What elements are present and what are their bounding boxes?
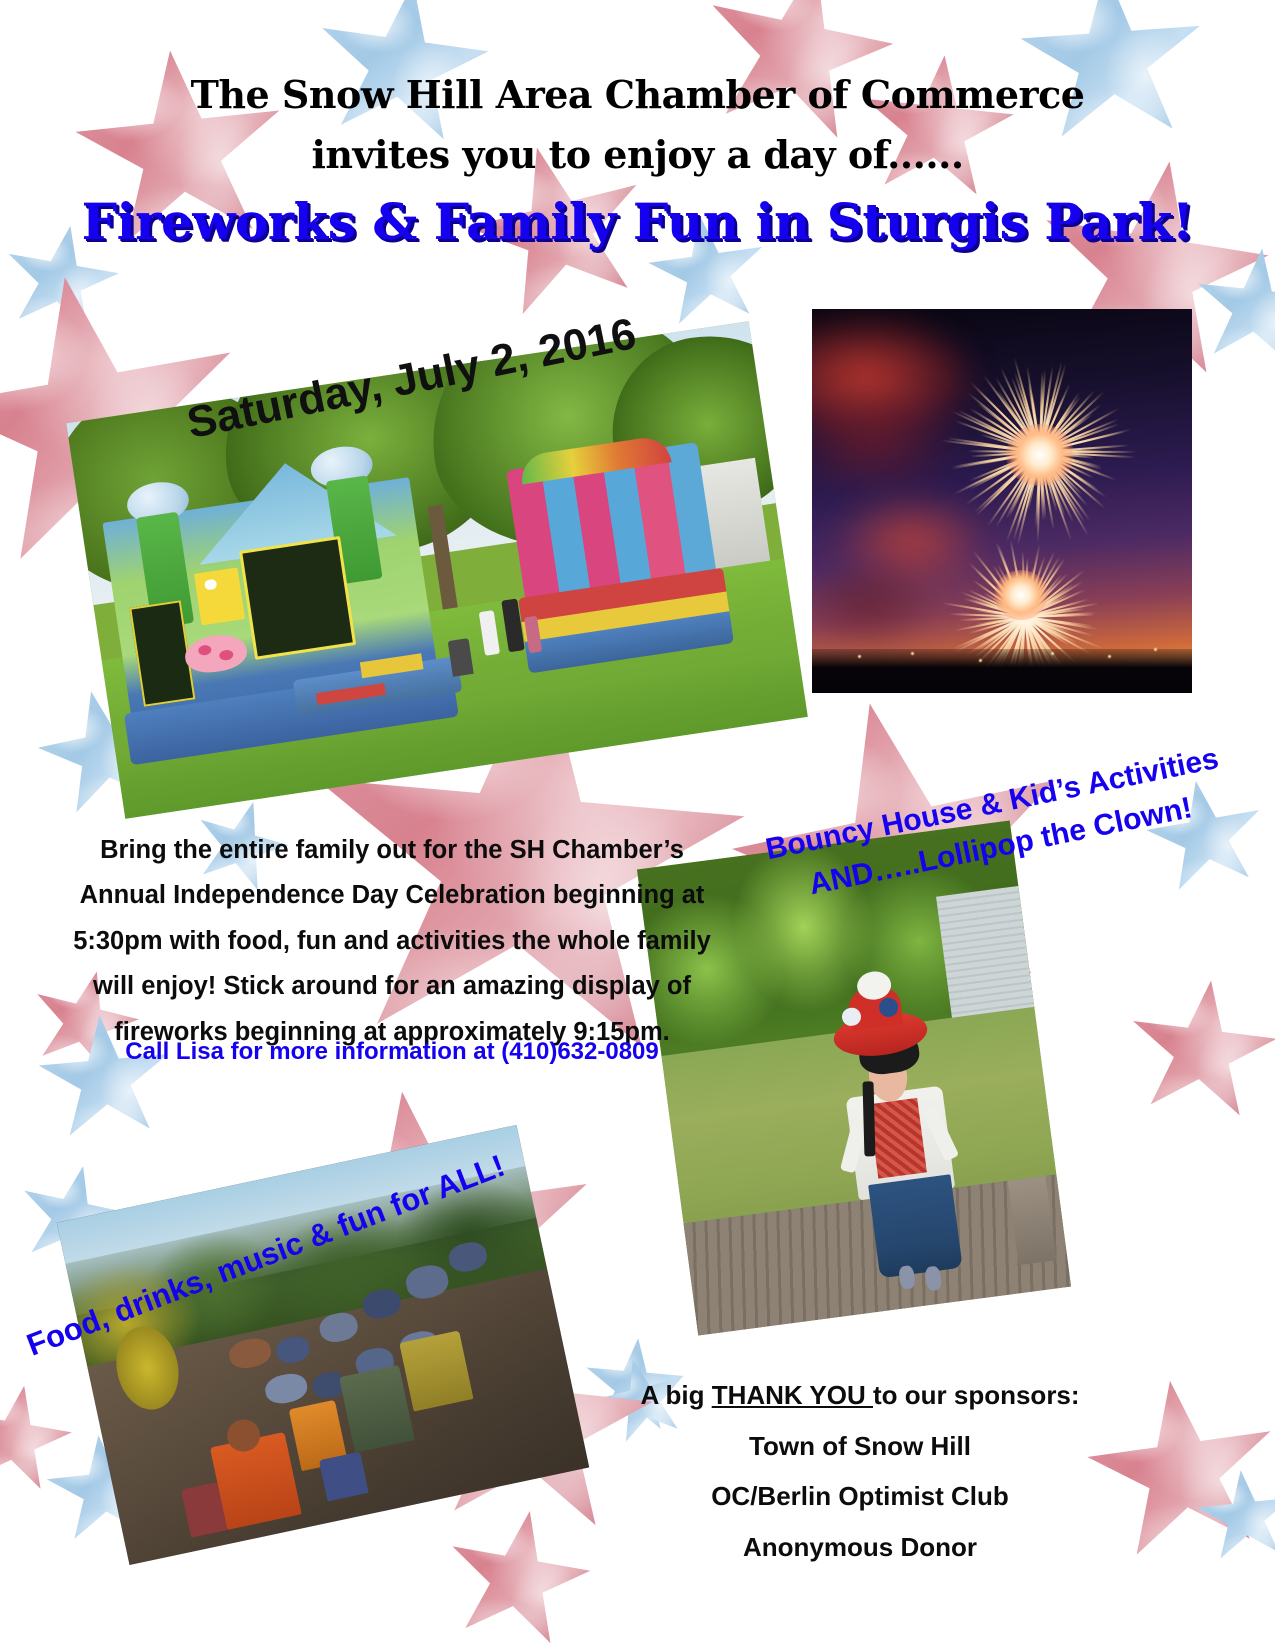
- flyer-text-content: The Snow Hill Area Chamber of Commerce i…: [0, 0, 1275, 1650]
- sponsor-item: Anonymous Donor: [560, 1522, 1160, 1573]
- contact-phone-line: Call Lisa for more information at (410)6…: [62, 1038, 722, 1066]
- activities-callout: Bouncy House & Kid’s Activities AND…..Lo…: [762, 738, 1231, 913]
- sponsor-item: Town of Snow Hill: [560, 1421, 1160, 1472]
- sponsors-intro-before: A big: [640, 1380, 711, 1410]
- page-title: Fireworks & Family Fun in Sturgis Park!: [0, 192, 1275, 251]
- header-line-1: The Snow Hill Area Chamber of Commerce: [0, 72, 1275, 117]
- header-line-2: invites you to enjoy a day of......: [0, 132, 1275, 177]
- sponsors-intro: A big THANK YOU to our sponsors:: [560, 1370, 1160, 1421]
- sponsors-section: A big THANK YOU to our sponsors: Town of…: [560, 1370, 1160, 1573]
- sponsor-item: OC/Berlin Optimist Club: [560, 1471, 1160, 1522]
- event-date: Saturday, July 2, 2016: [183, 309, 640, 449]
- flyer-page: The Snow Hill Area Chamber of Commerce i…: [0, 0, 1275, 1650]
- sponsors-intro-after: to our sponsors:: [873, 1380, 1080, 1410]
- event-description: Bring the entire family out for the SH C…: [62, 828, 722, 1055]
- food-fun-callout: Food, drinks, music & fun for ALL!: [22, 1148, 510, 1364]
- thank-you-underlined: THANK YOU: [712, 1380, 873, 1410]
